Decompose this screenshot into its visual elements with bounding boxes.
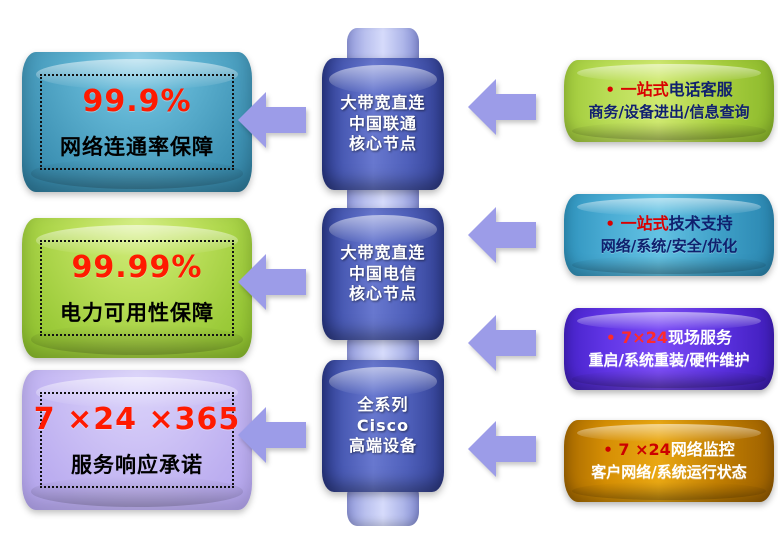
core-node-telecom: 大带宽直连 中国电信 核心节点: [322, 208, 444, 340]
core-node-unicom: 大带宽直连 中国联通 核心节点: [322, 58, 444, 190]
power-caption: 电力可用性保障: [60, 303, 214, 324]
core-line: 核心节点: [349, 134, 417, 154]
guarantee-card-network-uptime: 99.9% 网络连通率保障: [22, 52, 252, 192]
bullet-icon: •: [605, 81, 615, 99]
headline-rest: 网络监控: [671, 440, 735, 459]
core-line: 中国电信: [349, 264, 417, 284]
service-headline: • 一站式技术支持: [605, 215, 732, 233]
service-headline: • 7 ×24网络监控: [603, 441, 735, 459]
uptime-caption: 网络连通率保障: [60, 137, 214, 158]
service-detail: 网络/系统/安全/优化: [601, 238, 737, 255]
arrow-right-tech-support: [466, 198, 538, 272]
uptime-value: 99.9%: [82, 87, 191, 117]
core-line: 大带宽直连: [340, 93, 425, 113]
arrow-left-uptime: [236, 83, 308, 157]
headline-highlight: 7×24: [621, 328, 668, 347]
headline-highlight: 7 ×24: [618, 440, 670, 459]
guarantee-card-power-availability: 99.99% 电力可用性保障: [22, 218, 252, 358]
service-detail: 客户网络/系统运行状态: [582, 464, 757, 481]
bullet-icon: •: [605, 215, 615, 233]
core-node-cisco: 全系列 Cisco 高端设备: [322, 360, 444, 492]
core-line: 大带宽直连: [340, 243, 425, 263]
service-headline: • 一站式电话客服: [605, 81, 732, 99]
headline-highlight: 一站式: [621, 80, 669, 99]
response-caption: 服务响应承诺: [71, 455, 203, 476]
bullet-icon: •: [606, 329, 616, 347]
service-headline: • 7×24现场服务: [606, 329, 732, 347]
headline-highlight: 一站式: [621, 214, 669, 233]
service-card-technical-support: • 一站式技术支持 网络/系统/安全/优化: [564, 194, 774, 276]
core-line: 核心节点: [349, 284, 417, 304]
service-card-network-monitoring: • 7 ×24网络监控 客户网络/系统运行状态: [564, 420, 774, 502]
service-card-phone-customer-service: • 一站式电话客服 商务/设备进出/信息查询: [564, 60, 774, 142]
core-line: 全系列: [357, 395, 408, 415]
service-detail: 商务/设备进出/信息查询: [589, 104, 750, 121]
core-line: 中国联通: [349, 114, 417, 134]
headline-rest: 电话客服: [669, 80, 733, 99]
service-card-onsite-service: • 7×24现场服务 重启/系统重装/硬件维护: [564, 308, 774, 390]
bullet-icon: •: [603, 441, 613, 459]
diagram-canvas: 99.9% 网络连通率保障 99.99% 电力可用性保障 7 ×24 ×365 …: [0, 0, 778, 543]
power-value: 99.99%: [72, 253, 203, 283]
core-line: Cisco: [357, 416, 409, 436]
arrow-left-response: [236, 398, 308, 472]
arrow-right-network-monitoring: [466, 412, 538, 486]
headline-rest: 现场服务: [668, 328, 732, 347]
service-detail: 重启/系统重装/硬件维护: [589, 352, 750, 369]
headline-rest: 技术支持: [669, 214, 733, 233]
response-value: 7 ×24 ×365: [34, 405, 240, 435]
arrow-right-phone-service: [466, 70, 538, 144]
arrow-right-onsite-service: [466, 306, 538, 380]
arrow-left-power: [236, 245, 308, 319]
core-line: 高端设备: [349, 436, 417, 456]
guarantee-card-service-response: 7 ×24 ×365 服务响应承诺: [22, 370, 252, 510]
